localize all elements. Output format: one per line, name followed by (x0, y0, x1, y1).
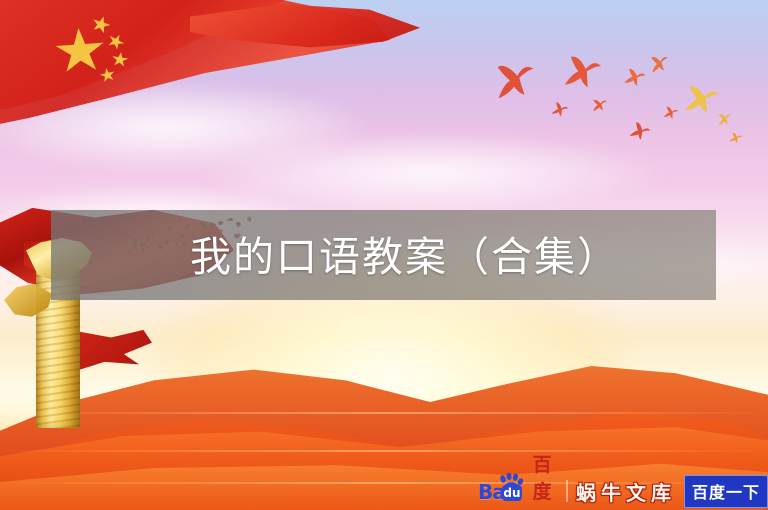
page-title: 我的口语教案（合集） (190, 233, 620, 281)
bird-9-icon (625, 119, 655, 148)
bird-2-icon (558, 52, 608, 99)
bird-7-icon (589, 97, 611, 115)
dove-flock (490, 52, 760, 160)
site-name: 蜗牛文库 (576, 477, 676, 506)
silk-highlight (0, 450, 768, 452)
bird-8-icon (661, 105, 682, 124)
baidu-search-button[interactable]: 百度一下 (684, 475, 768, 508)
poster-canvas: 我的口语教案（合集） Bai du 百度 蜗牛文库 百度一下 (0, 0, 768, 510)
silk-highlight (0, 412, 768, 414)
bird-4-icon (646, 52, 673, 78)
bird-6-icon (548, 100, 572, 123)
baidu-du-badge: du (502, 485, 522, 501)
bird-1-icon (487, 57, 545, 110)
bird-10-icon (715, 111, 735, 129)
baidu-logo[interactable]: Bai du 百度 (478, 478, 552, 504)
bird-3-icon (620, 66, 650, 93)
divider (566, 480, 568, 502)
baidu-chinese-text: 百度 (533, 450, 553, 504)
bird-11-icon (727, 130, 746, 147)
watermark-bar: Bai du 百度 蜗牛文库 百度一下 (478, 476, 768, 506)
